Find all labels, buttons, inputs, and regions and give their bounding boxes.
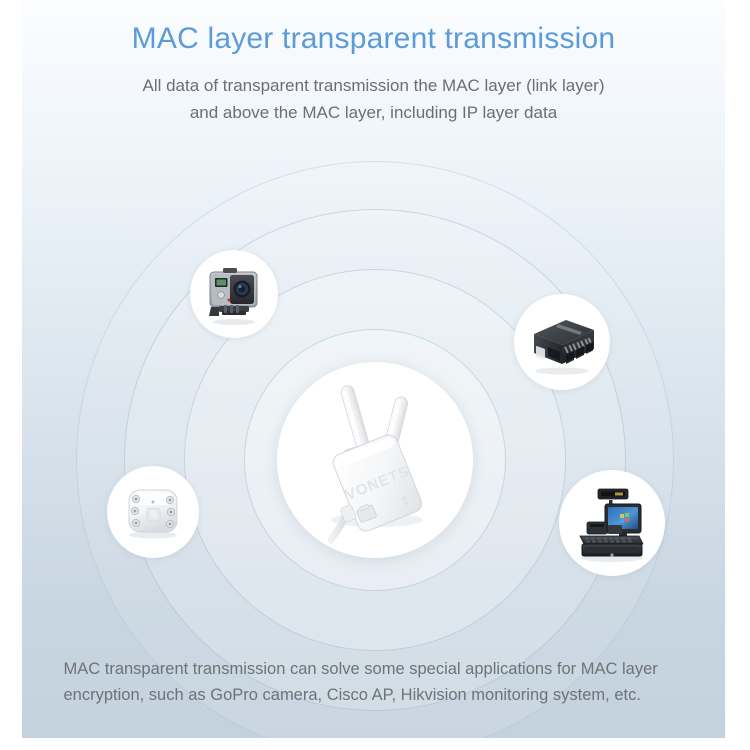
gopro-camera-icon — [199, 259, 269, 329]
node-bubble-plc — [514, 294, 610, 390]
footer-line-2: encryption, such as GoPro camera, Cisco … — [64, 686, 641, 704]
promo-banner: MAC layer transparent transmission All d… — [22, 0, 725, 738]
subtitle-line-1: All data of transparent transmission the… — [64, 72, 684, 100]
center-device-bubble: VONETS — [277, 362, 473, 558]
banner-header: MAC layer transparent transmission All d… — [22, 0, 725, 127]
plc-controller-icon — [522, 302, 602, 382]
subtitle-line-2: and above the MAC layer, including IP la… — [64, 99, 684, 127]
node-bubble-gopro — [190, 250, 278, 338]
pos-terminal-icon — [567, 478, 657, 568]
page-subtitle: All data of transparent transmission the… — [64, 72, 684, 127]
cisco-ap-icon — [116, 475, 190, 549]
page-title: MAC layer transparent transmission — [22, 0, 725, 58]
vonets-router-icon: VONETS — [285, 370, 465, 550]
banner-footer: MAC transparent transmission can solve s… — [22, 656, 725, 708]
node-bubble-cisco-ap — [107, 466, 199, 558]
footer-line-1: MAC transparent transmission can solve s… — [64, 660, 658, 678]
footer-text: MAC transparent transmission can solve s… — [64, 656, 684, 708]
node-bubble-pos — [559, 470, 665, 576]
